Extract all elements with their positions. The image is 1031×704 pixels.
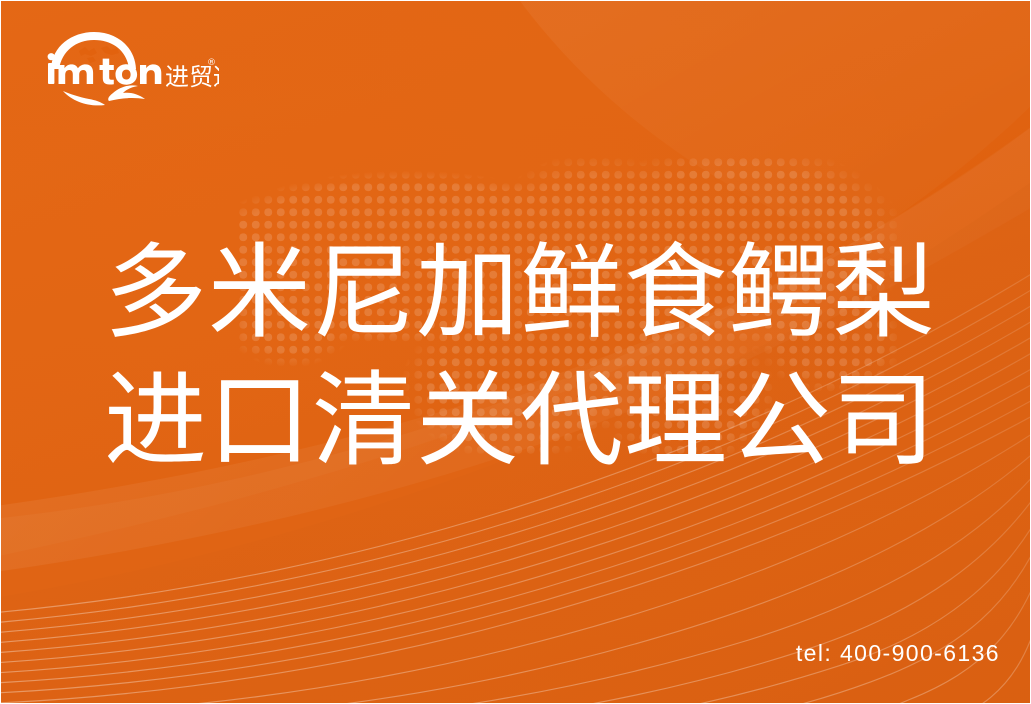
page-title: 多米尼加鲜食鳄梨 进口清关代理公司 [104, 229, 964, 485]
brand-logo: 进贸通 ® [39, 29, 219, 107]
headline-line-2: 进口清关代理公司 [104, 357, 964, 485]
contact-phone: tel: 400-900-6136 [796, 640, 1000, 667]
brand-wordmark-latin [48, 53, 162, 85]
swoosh-icon [63, 85, 145, 105]
poster-canvas: 进贸通 ® 多米尼加鲜食鳄梨 进口清关代理公司 tel: 400-900-613… [0, 0, 1031, 704]
brand-logo-mark: 进贸通 ® [39, 29, 219, 107]
registered-trademark-icon: ® [207, 58, 216, 68]
headline-line-1: 多米尼加鲜食鳄梨 [104, 229, 964, 357]
